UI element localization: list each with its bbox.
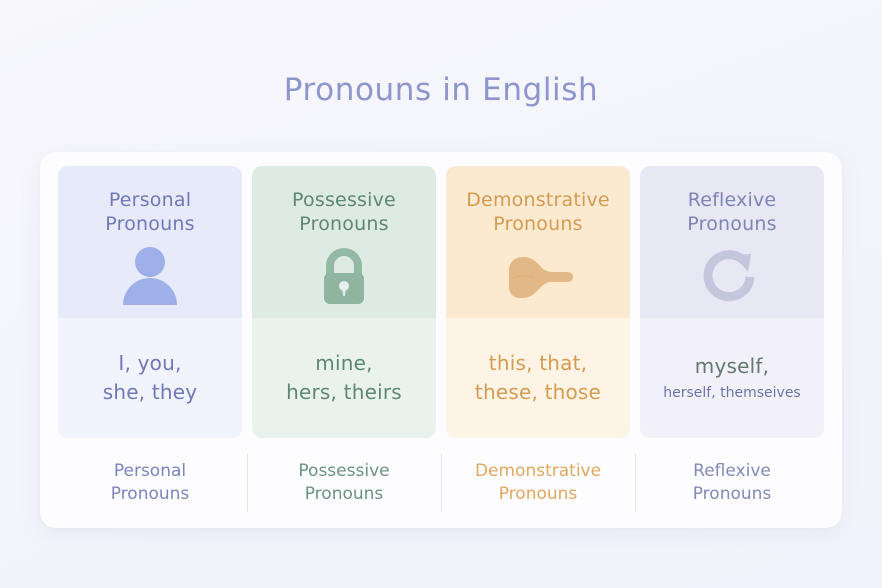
card-personal-pronouns[interactable]: Personal Pronouns I, you, she, they <box>58 166 242 438</box>
card-title-reflexive-line1: Reflexive <box>688 189 777 211</box>
cards-panel: Personal Pronouns I, you, she, they <box>40 152 842 528</box>
card-title-demonstrative-line1: Demonstrative <box>466 189 610 211</box>
refresh-circular-arrow-icon <box>701 245 763 307</box>
footer-label-personal-line1: Personal <box>114 461 186 481</box>
card-examples-personal-line1: I, you, <box>118 351 181 375</box>
footer-label-possessive[interactable]: Possessive Pronouns <box>252 452 436 514</box>
card-title-demonstrative-line2: Pronouns <box>493 213 582 235</box>
icon-wrap-possessive <box>252 237 436 318</box>
card-possessive-pronouns[interactable]: Possessive Pronouns mi <box>252 166 436 438</box>
lock-icon <box>315 244 373 308</box>
cards-row: Personal Pronouns I, you, she, they <box>58 166 824 438</box>
card-examples-personal-line2: she, they <box>103 380 198 404</box>
card-header-personal: Personal Pronouns <box>58 166 242 318</box>
card-examples-demonstrative-line2: these, those <box>475 380 601 404</box>
card-demonstrative-pronouns[interactable]: Demonstrative Pronouns this, that, <box>446 166 630 438</box>
card-examples-reflexive: myself, <box>687 352 777 381</box>
card-title-demonstrative: Demonstrative Pronouns <box>458 188 618 237</box>
card-examples-demonstrative-line1: this, that, <box>489 351 587 375</box>
card-examples-possessive-line2: hers, theirs <box>286 380 402 404</box>
page-title: Pronouns in English <box>0 72 882 108</box>
footer-label-personal[interactable]: Personal Pronouns <box>58 452 242 514</box>
card-examples-personal: I, you, she, they <box>95 349 206 407</box>
card-header-possessive: Possessive Pronouns <box>252 166 436 318</box>
footer-label-reflexive-line2: Pronouns <box>693 484 772 504</box>
card-header-demonstrative: Demonstrative Pronouns <box>446 166 630 318</box>
card-body-possessive: mine, hers, theirs <box>252 318 436 438</box>
footer-label-demonstrative-line2: Pronouns <box>499 484 578 504</box>
card-header-reflexive: Reflexive Pronouns <box>640 166 824 318</box>
card-title-reflexive-line2: Pronouns <box>687 213 776 235</box>
icon-wrap-reflexive <box>640 237 824 318</box>
footer-label-reflexive-line1: Reflexive <box>693 461 771 481</box>
card-title-possessive: Possessive Pronouns <box>284 188 404 237</box>
card-title-possessive-line1: Possessive <box>292 189 396 211</box>
pointing-hand-icon <box>501 248 575 304</box>
footer-label-demonstrative[interactable]: Demonstrative Pronouns <box>446 452 630 514</box>
card-title-possessive-line2: Pronouns <box>299 213 388 235</box>
card-body-personal: I, you, she, they <box>58 318 242 438</box>
card-title-personal-line1: Personal <box>109 189 191 211</box>
card-title-personal: Personal Pronouns <box>97 188 202 237</box>
footer-label-personal-line2: Pronouns <box>111 484 190 504</box>
card-examples-possessive-line1: mine, <box>315 351 372 375</box>
card-body-reflexive: myself, herself, themseives <box>640 318 824 438</box>
footer-label-possessive-line2: Pronouns <box>305 484 384 504</box>
icon-wrap-personal <box>58 237 242 318</box>
card-examples-demonstrative: this, that, these, those <box>467 349 609 407</box>
person-icon <box>118 245 182 307</box>
card-title-reflexive: Reflexive Pronouns <box>679 188 784 237</box>
card-reflexive-pronouns[interactable]: Reflexive Pronouns myself, herself, them… <box>640 166 824 438</box>
card-examples-possessive: mine, hers, theirs <box>278 349 410 407</box>
footer-label-demonstrative-line1: Demonstrative <box>475 461 601 481</box>
icon-wrap-demonstrative <box>446 237 630 318</box>
card-examples-reflexive-sub: herself, themseives <box>657 384 806 404</box>
card-body-demonstrative: this, that, these, those <box>446 318 630 438</box>
footer-label-possessive-line1: Possessive <box>298 461 389 481</box>
footer-labels-row: Personal Pronouns Possessive Pronouns De… <box>58 452 824 514</box>
footer-label-reflexive[interactable]: Reflexive Pronouns <box>640 452 824 514</box>
card-title-personal-line2: Pronouns <box>105 213 194 235</box>
